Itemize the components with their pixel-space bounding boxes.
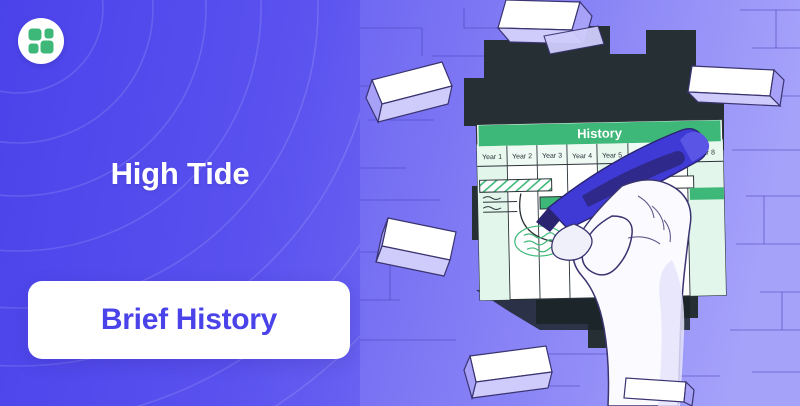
- chart-col-header: Year 4: [572, 153, 592, 160]
- logo-square-bottom-right: [41, 41, 54, 54]
- logo-square-bottom-left: [29, 43, 39, 54]
- promo-banner: High Tide Brief History: [0, 0, 800, 406]
- page-title: High Tide: [0, 156, 360, 192]
- chart-title: History: [577, 125, 623, 141]
- logo-square-top-right: [44, 29, 54, 39]
- app-logo-badge[interactable]: [18, 18, 64, 64]
- four-squares-grid-icon: [29, 29, 54, 54]
- logo-square-top-left: [29, 29, 42, 41]
- chart-col-header: Year 1: [482, 154, 502, 161]
- chart-band-col1: [477, 144, 510, 301]
- hero-illustration: History: [360, 0, 800, 406]
- chart-col-header: Year 2: [512, 153, 532, 160]
- bar-green-edge: [690, 187, 724, 200]
- brief-history-button-label: Brief History: [101, 303, 277, 337]
- chart-col-header: Year 5: [602, 152, 622, 159]
- bar-hatched-top: [480, 179, 552, 193]
- chart-col-header: Year 3: [542, 153, 562, 160]
- brief-history-button[interactable]: Brief History: [28, 281, 350, 359]
- brick: [688, 66, 784, 106]
